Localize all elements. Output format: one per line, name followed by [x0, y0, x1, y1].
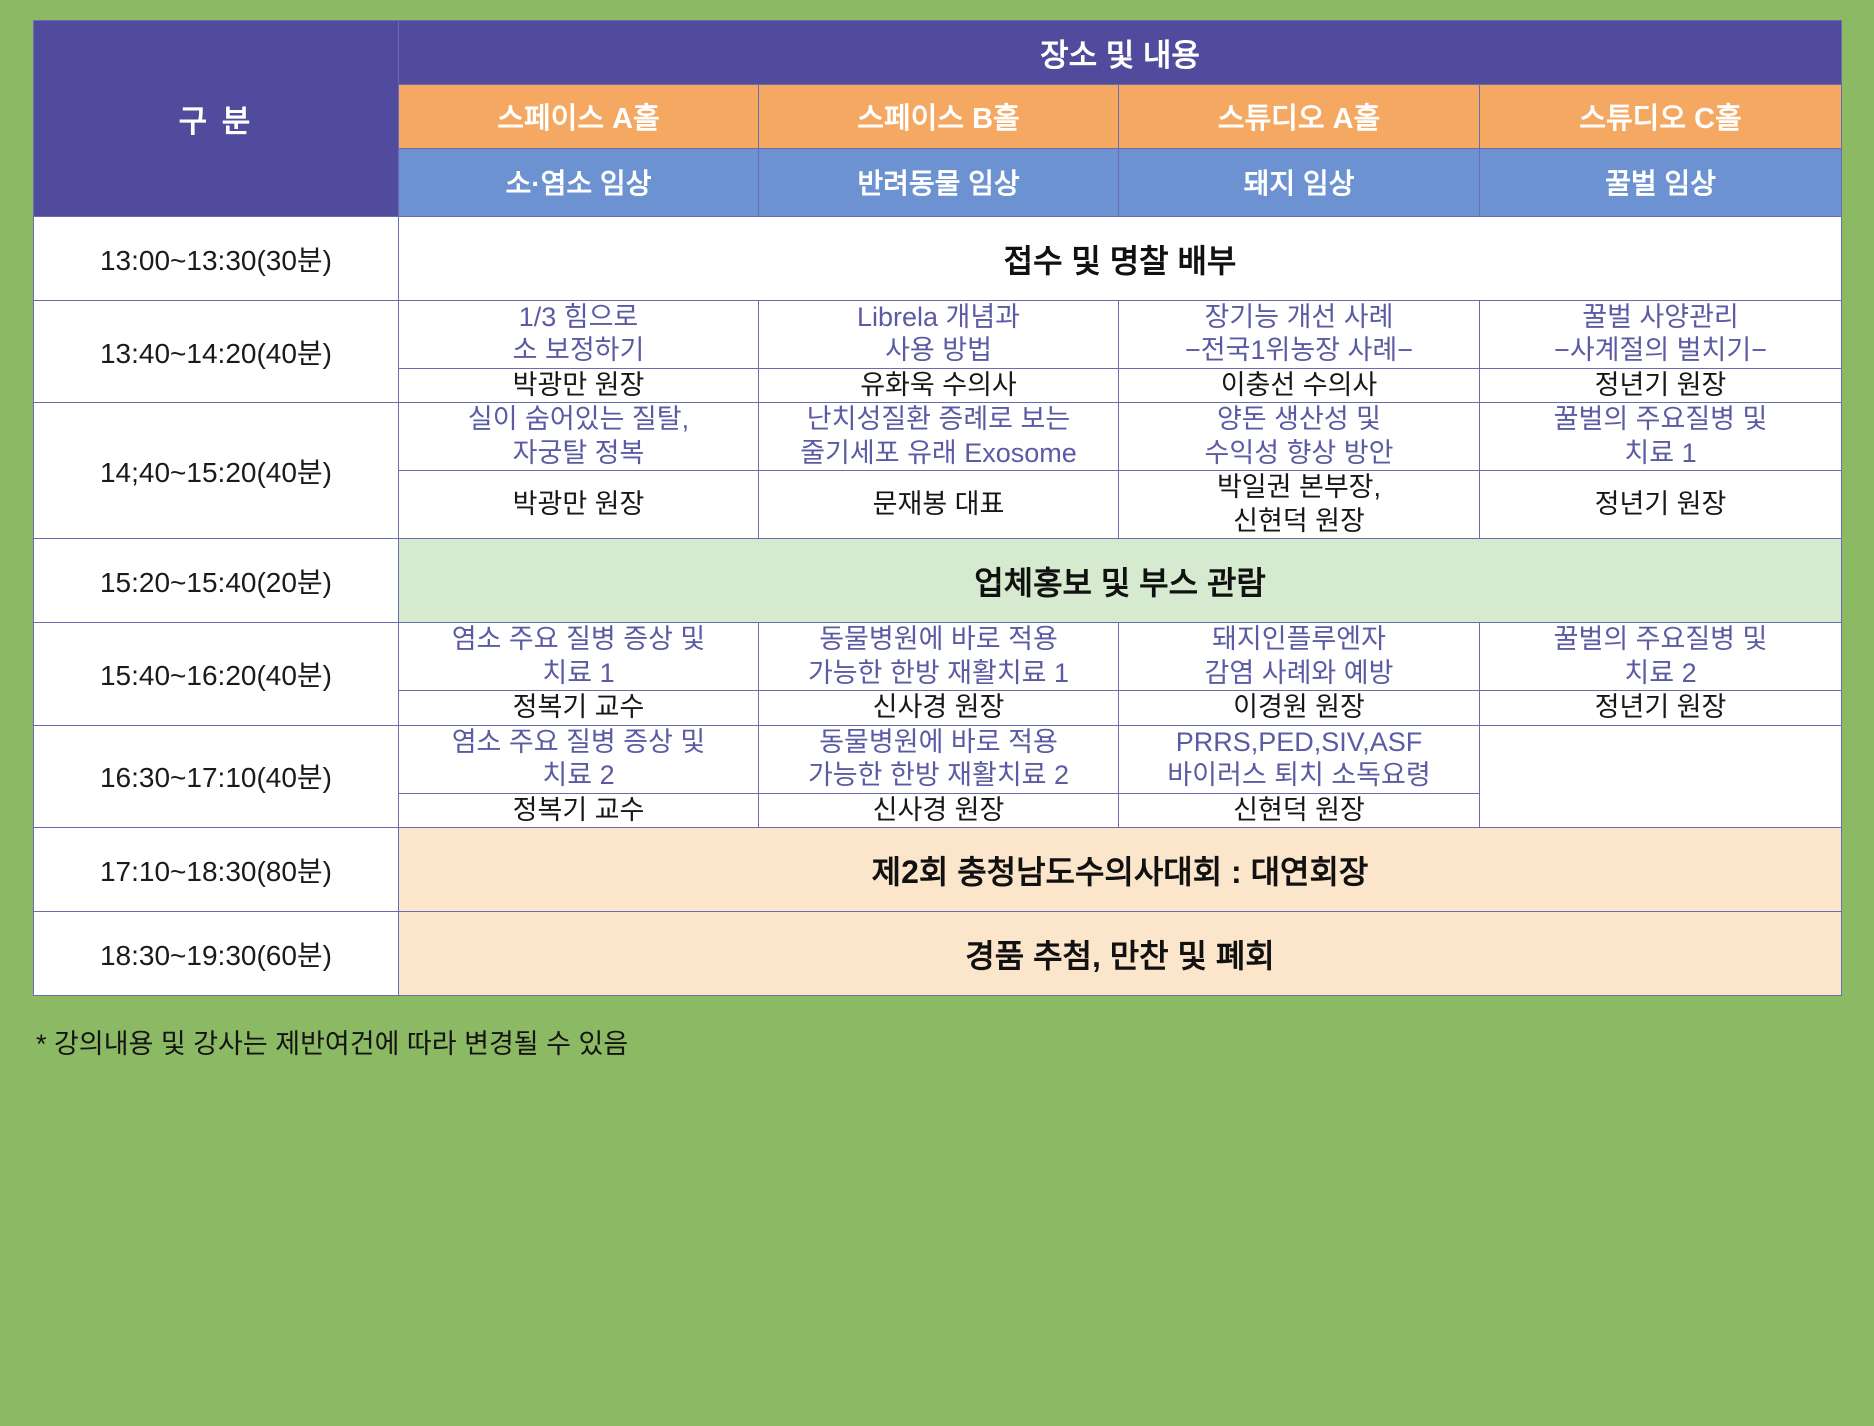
- speaker-cell: 박광만 원장: [399, 368, 759, 402]
- header-subject-cattle-goat: 소·염소 임상: [399, 148, 759, 216]
- time-cell: 14;40~15:20(40분): [34, 403, 399, 539]
- speaker-cell: 신현덕 원장: [1119, 793, 1480, 827]
- topic-cell: Librela 개념과사용 방법: [759, 301, 1119, 369]
- header-place-and-content: 장소 및 내용: [399, 21, 1842, 85]
- merged-event-cell: 업체홍보 및 부스 관람: [399, 539, 1842, 623]
- topic-cell: 꿀벌의 주요질병 및치료 1: [1480, 403, 1842, 471]
- speaker-cell: 이경원 원장: [1119, 691, 1480, 725]
- merged-event-cell: 접수 및 명찰 배부: [399, 217, 1842, 301]
- schedule-row-merged: 18:30~19:30(60분)경품 추첨, 만찬 및 폐회: [34, 912, 1842, 996]
- header-subject-swine: 돼지 임상: [1119, 148, 1480, 216]
- merged-event-cell: 제2회 충청남도수의사대회 : 대연회장: [399, 828, 1842, 912]
- speaker-cell: 박광만 원장: [399, 471, 759, 539]
- time-cell: 13:00~13:30(30분): [34, 217, 399, 301]
- topic-cell: 1/3 힘으로소 보정하기: [399, 301, 759, 369]
- header-hall-space-a: 스페이스 A홀: [399, 84, 759, 148]
- schedule-row-topics: 13:40~14:20(40분)1/3 힘으로소 보정하기Librela 개념과…: [34, 301, 1842, 369]
- speaker-cell: 정복기 교수: [399, 691, 759, 725]
- topic-cell: 난치성질환 증례로 보는줄기세포 유래 Exosome: [759, 403, 1119, 471]
- empty-cell: [1480, 725, 1842, 827]
- time-cell: 16:30~17:10(40분): [34, 725, 399, 827]
- schedule-row-topics: 16:30~17:10(40분)염소 주요 질병 증상 및치료 2동물병원에 바…: [34, 725, 1842, 793]
- header-hall-studio-a: 스튜디오 A홀: [1119, 84, 1480, 148]
- header-row-place: 구 분 장소 및 내용: [34, 21, 1842, 85]
- schedule-row-merged: 13:00~13:30(30분)접수 및 명찰 배부: [34, 217, 1842, 301]
- schedule-row-merged: 17:10~18:30(80분)제2회 충청남도수의사대회 : 대연회장: [34, 828, 1842, 912]
- topic-cell: 염소 주요 질병 증상 및치료 1: [399, 623, 759, 691]
- footnote: * 강의내용 및 강사는 제반여건에 따라 변경될 수 있음: [33, 1022, 1854, 1061]
- schedule-row-topics: 14;40~15:20(40분)실이 숨어있는 질탈,자궁탈 정복난치성질환 증…: [34, 403, 1842, 471]
- time-cell: 15:40~16:20(40분): [34, 623, 399, 725]
- schedule-row-merged: 15:20~15:40(20분)업체홍보 및 부스 관람: [34, 539, 1842, 623]
- header-hall-space-b: 스페이스 B홀: [759, 84, 1119, 148]
- topic-cell: 양돈 생산성 및수익성 향상 방안: [1119, 403, 1480, 471]
- speaker-cell: 박일권 본부장,신현덕 원장: [1119, 471, 1480, 539]
- time-cell: 17:10~18:30(80분): [34, 828, 399, 912]
- topic-cell: 꿀벌의 주요질병 및치료 2: [1480, 623, 1842, 691]
- topic-cell: 꿀벌 사양관리−사계절의 벌치기−: [1480, 301, 1842, 369]
- header-subject-honeybee: 꿀벌 임상: [1480, 148, 1842, 216]
- topic-cell: PRRS,PED,SIV,ASF바이러스 퇴치 소독요령: [1119, 725, 1480, 793]
- topic-cell: 장기능 개선 사례−전국1위농장 사례−: [1119, 301, 1480, 369]
- header-hall-studio-c: 스튜디오 C홀: [1480, 84, 1842, 148]
- table-header: 구 분 장소 및 내용 스페이스 A홀 스페이스 B홀 스튜디오 A홀 스튜디오…: [34, 21, 1842, 217]
- speaker-cell: 문재봉 대표: [759, 471, 1119, 539]
- header-subject-companion-animal: 반려동물 임상: [759, 148, 1119, 216]
- topic-cell: 동물병원에 바로 적용가능한 한방 재활치료 2: [759, 725, 1119, 793]
- speaker-cell: 정년기 원장: [1480, 471, 1842, 539]
- schedule-table: 구 분 장소 및 내용 스페이스 A홀 스페이스 B홀 스튜디오 A홀 스튜디오…: [33, 20, 1842, 996]
- topic-cell: 염소 주요 질병 증상 및치료 2: [399, 725, 759, 793]
- time-cell: 15:20~15:40(20분): [34, 539, 399, 623]
- speaker-cell: 정년기 원장: [1480, 691, 1842, 725]
- speaker-cell: 신사경 원장: [759, 691, 1119, 725]
- topic-cell: 돼지인플루엔자감염 사례와 예방: [1119, 623, 1480, 691]
- time-cell: 18:30~19:30(60분): [34, 912, 399, 996]
- speaker-cell: 이충선 수의사: [1119, 368, 1480, 402]
- header-gubun: 구 분: [34, 21, 399, 217]
- topic-cell: 실이 숨어있는 질탈,자궁탈 정복: [399, 403, 759, 471]
- time-cell: 13:40~14:20(40분): [34, 301, 399, 403]
- speaker-cell: 정년기 원장: [1480, 368, 1842, 402]
- topic-cell: 동물병원에 바로 적용가능한 한방 재활치료 1: [759, 623, 1119, 691]
- speaker-cell: 유화욱 수의사: [759, 368, 1119, 402]
- schedule-row-topics: 15:40~16:20(40분)염소 주요 질병 증상 및치료 1동물병원에 바…: [34, 623, 1842, 691]
- speaker-cell: 정복기 교수: [399, 793, 759, 827]
- schedule-page: 구 분 장소 및 내용 스페이스 A홀 스페이스 B홀 스튜디오 A홀 스튜디오…: [0, 0, 1874, 1426]
- table-body: 13:00~13:30(30분)접수 및 명찰 배부13:40~14:20(40…: [34, 217, 1842, 996]
- speaker-cell: 신사경 원장: [759, 793, 1119, 827]
- merged-event-cell: 경품 추첨, 만찬 및 폐회: [399, 912, 1842, 996]
